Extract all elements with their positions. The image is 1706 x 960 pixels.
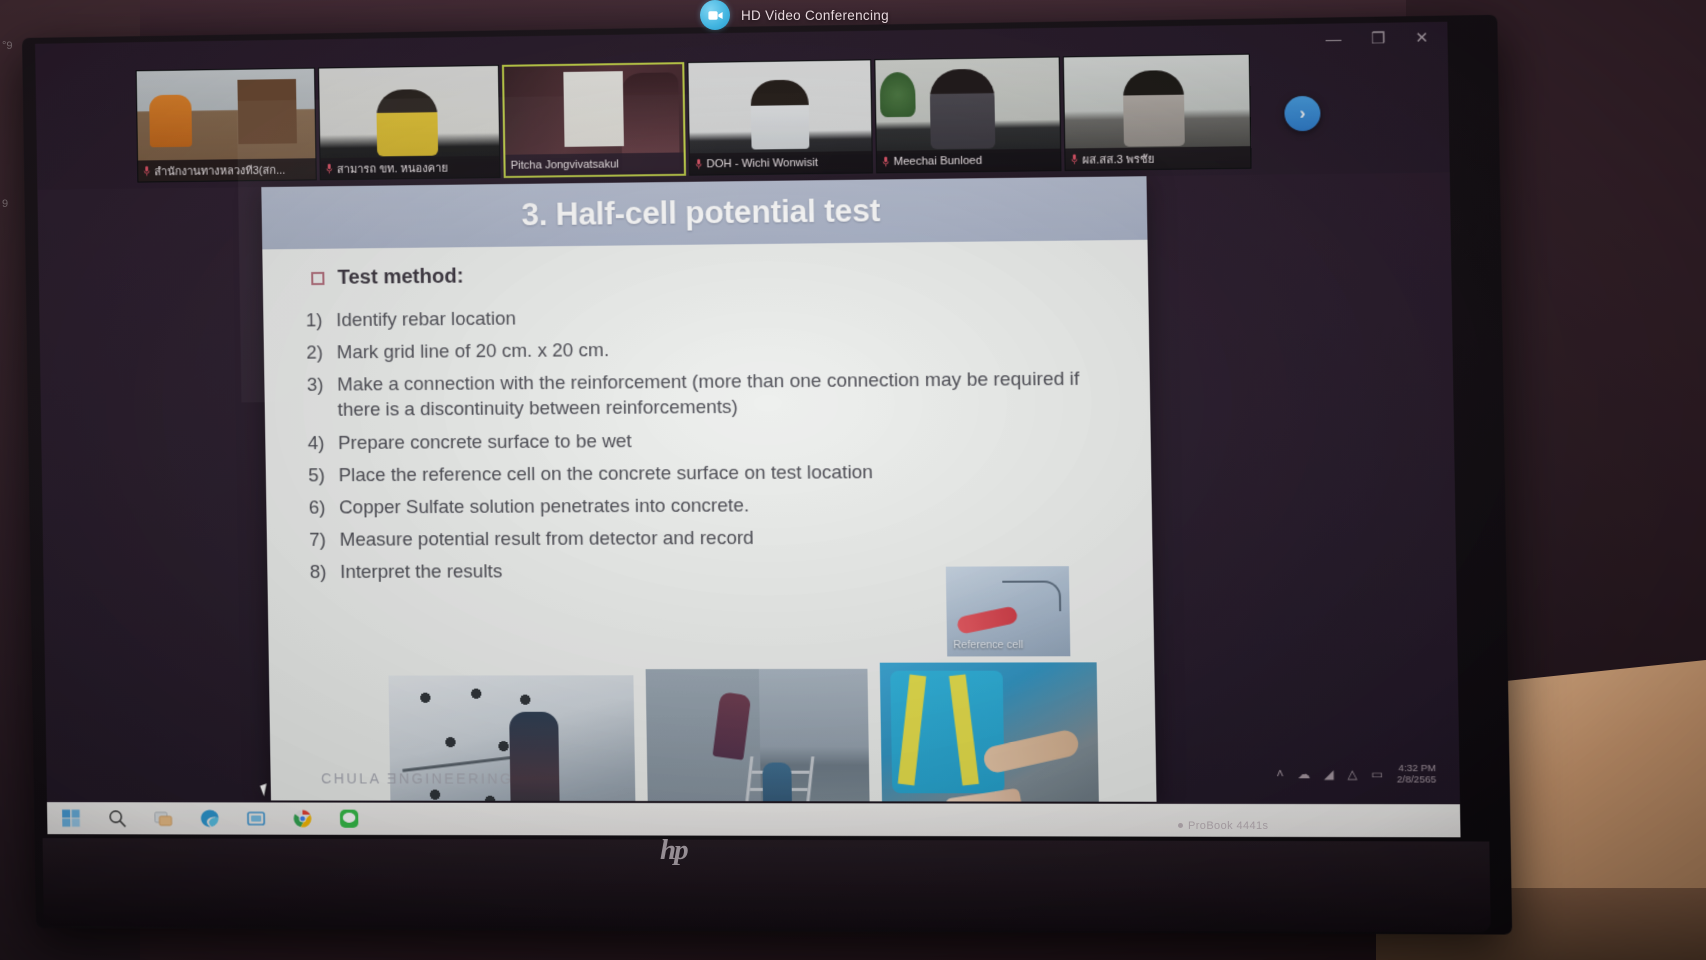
slide-photo-reference-cell: Reference cell (946, 566, 1071, 656)
slide-body: Test method: 1) Identify rebar location … (262, 240, 1156, 802)
window-controls: — ❐ ✕ (1325, 28, 1428, 48)
task-view-icon[interactable] (153, 808, 173, 828)
participant-tile-4[interactable]: DOH - Wichi Wonwisit (687, 59, 873, 175)
participant-tile-6[interactable]: ผส.สส.3 พรชัย (1063, 54, 1252, 171)
participant-name-row-2: สามารถ ขท. หนองคาย (320, 156, 499, 179)
video-conference-window: — ❐ ✕ (35, 22, 1460, 804)
participant-tile-2[interactable]: สามารถ ขท. หนองคาย (318, 65, 501, 180)
microphone-icon (326, 163, 333, 174)
participant-name-row-5: Meechai Bunloed (877, 149, 1061, 173)
participant-name-row-4: DOH - Wichi Wonwisit (690, 151, 872, 175)
list-item: 2) Mark grid line of 20 cm. x 20 cm. (294, 332, 1118, 365)
participant-name-5: Meechai Bunloed (893, 154, 982, 167)
secondary-screen-fragment-lower: 9 (2, 198, 8, 210)
participant-name-3: Pitcha Jongvivatsakul (511, 158, 619, 172)
step-number: 2) (306, 340, 323, 365)
video-camera-icon (700, 0, 730, 30)
probe-body (956, 605, 1019, 634)
list-item: 3) Make a connection with the reinforcem… (295, 365, 1119, 422)
model-name: ProBook 4441s (1188, 820, 1268, 832)
slide-header: 3. Half-cell potential test (261, 176, 1147, 249)
participant-name-4: DOH - Wichi Wonwisit (706, 156, 818, 170)
test-method-steps: 1) Identify rebar location 2) Mark grid … (293, 300, 1121, 592)
step-number: 7) (309, 527, 326, 552)
step-text: Interpret the results (340, 560, 502, 582)
clock-date: 2/8/2565 (1397, 774, 1436, 786)
stage-right-gutter (1146, 172, 1459, 802)
search-icon[interactable] (107, 808, 127, 828)
list-item: 5) Place the reference cell on the concr… (296, 457, 1120, 487)
participant-tile-5[interactable]: Meechai Bunloed (874, 56, 1061, 173)
minimize-button[interactable]: — (1325, 30, 1341, 48)
teams-icon[interactable] (246, 808, 266, 828)
step-text: Measure potential result from detector a… (339, 527, 753, 550)
laptop-model-label: ProBook 4441s (1178, 820, 1268, 832)
step-number: 6) (309, 494, 326, 519)
brand-title: HD Video Conferencing (741, 8, 889, 23)
reference-cell-caption: Reference cell (953, 639, 1023, 651)
line-chat-icon[interactable] (339, 809, 360, 829)
list-item: 1) Identify rebar location (293, 300, 1117, 333)
cloud-icon[interactable]: ☁ (1297, 767, 1310, 781)
microphone-icon (882, 156, 889, 167)
shared-presentation-slide: 3. Half-cell potential test Test method:… (261, 176, 1156, 802)
slide-photo-field-test (646, 669, 871, 802)
volume-icon[interactable]: △ (1347, 767, 1357, 781)
laptop-palmrest (43, 838, 1491, 932)
clock-time: 4:32 PM (1397, 763, 1436, 775)
network-icon[interactable]: ◢ (1324, 767, 1334, 781)
microphone-icon (1071, 153, 1079, 164)
step-text: Identify rebar location (336, 307, 516, 330)
microphone-icon (695, 158, 702, 169)
test-method-label: Test method: (337, 265, 463, 289)
step-text: Make a connection with the reinforcement… (337, 368, 1079, 420)
square-bullet-icon (311, 272, 324, 285)
laptop: — ❐ ✕ (22, 15, 1512, 935)
system-tray: ˄ ☁ ◢ △ ▭ 4:32 PM 2/8/2565 (1276, 763, 1436, 786)
step-number: 4) (308, 430, 325, 455)
model-bullet-icon (1178, 823, 1183, 828)
list-item: 7) Measure potential result from detecto… (297, 523, 1121, 552)
maximize-button[interactable]: ❐ (1371, 29, 1386, 48)
photo-scene: °9 9 HD Video Conferencing — ❐ ✕ (0, 0, 1706, 960)
participant-name-row-3: Pitcha Jongvivatsakul (505, 152, 684, 176)
step-text: Prepare concrete surface to be wet (338, 430, 632, 453)
slide-photo-technician-closeup (880, 662, 1100, 801)
participant-name-6: ผส.สส.3 พรชัย (1082, 149, 1155, 168)
list-item: 6) Copper Sulfate solution penetrates in… (296, 490, 1120, 520)
step-text: Place the reference cell on the concrete… (338, 461, 873, 485)
step-number: 3) (307, 372, 324, 397)
battery-icon[interactable]: ▭ (1371, 767, 1383, 781)
participant-tile-1[interactable]: สำนักงานทางหลวงที3(สก... (136, 68, 317, 183)
microphone-icon (143, 165, 150, 176)
participant-tile-3[interactable]: Pitcha Jongvivatsakul (502, 62, 686, 178)
laptop-screen: — ❐ ✕ (35, 22, 1460, 838)
windows-start-icon[interactable] (61, 808, 81, 828)
close-button[interactable]: ✕ (1415, 28, 1429, 47)
chevron-up-icon[interactable]: ˄ (1276, 767, 1284, 781)
step-number: 8) (310, 559, 327, 584)
stage-left-gutter (37, 187, 271, 800)
step-text: Mark grid line of 20 cm. x 20 cm. (337, 339, 610, 363)
edge-browser-icon[interactable] (200, 808, 220, 828)
participant-name-1: สำนักงานทางหลวงที3(สก... (154, 160, 285, 180)
slide-title: 3. Half-cell potential test (521, 193, 880, 234)
secondary-screen-fragment-top: °9 (2, 40, 13, 52)
worker-figure-2 (762, 763, 792, 802)
windows-desktop: — ❐ ✕ (35, 22, 1460, 838)
hp-logo: hp (660, 834, 687, 867)
next-participants-button[interactable]: › (1284, 96, 1321, 131)
step-number: 5) (308, 462, 325, 487)
list-item: 4) Prepare concrete surface to be wet (295, 424, 1119, 455)
test-method-heading: Test method: (311, 265, 464, 290)
chrome-browser-icon[interactable] (292, 809, 313, 829)
participant-name-2: สามารถ ขท. หนองคาย (337, 158, 449, 178)
step-number: 1) (306, 307, 323, 332)
participant-name-row-1: สำนักงานทางหลวงที3(สก... (138, 158, 316, 181)
worker-figure (509, 712, 560, 802)
brand-bar: HD Video Conferencing (700, 0, 889, 30)
clock[interactable]: 4:32 PM 2/8/2565 (1397, 763, 1437, 786)
step-text: Copper Sulfate solution penetrates into … (339, 494, 749, 517)
participant-filmstrip: สำนักงานทางหลวงที3(สก... (136, 53, 1280, 182)
participant-name-row-6: ผส.สส.3 พรชัย (1065, 146, 1250, 170)
slide-footer-branding: CHULA ƎNGINEERING (321, 770, 514, 786)
